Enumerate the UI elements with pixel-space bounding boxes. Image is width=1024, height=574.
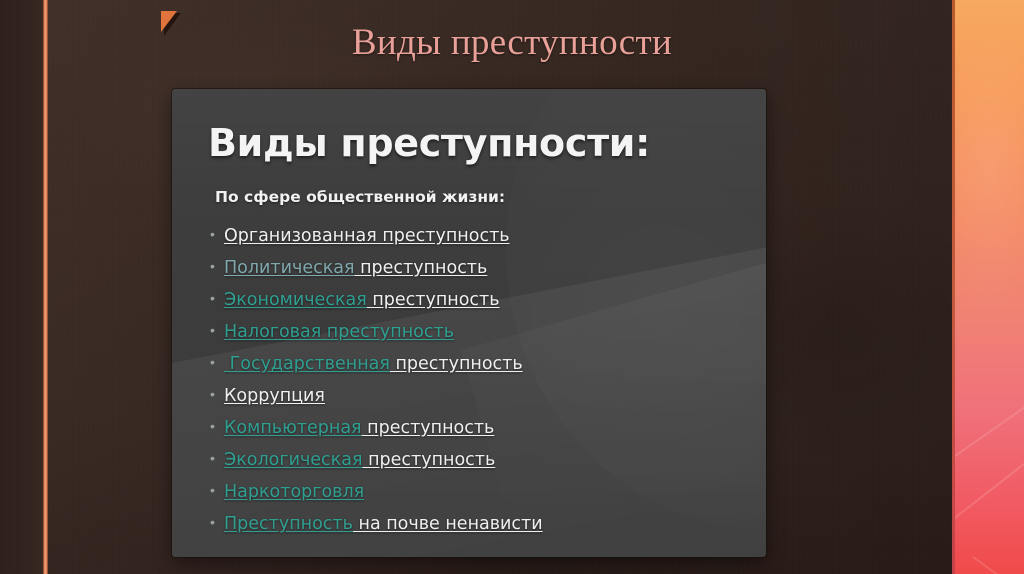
bullet-dot-icon: • [210,227,224,241]
left-orange-rule [43,0,48,574]
list-item-label: Экономическая преступность [224,288,500,312]
list-item-label: Налоговая преступность [224,320,454,344]
list-item[interactable]: •Коррупция [210,384,742,416]
list-item[interactable]: • Государственная преступность [210,352,742,384]
bullet-dot-icon: • [210,419,224,433]
bullet-dot-icon: • [210,323,224,337]
list-item-segment: Организованная преступность [224,226,510,246]
list-item[interactable]: •Налоговая преступность [210,320,742,352]
bullet-dot-icon: • [210,451,224,465]
list-item-label: Экологическая преступность [224,448,495,472]
slide-heading: Виды преступности [0,21,1024,65]
list-item-segment: преступность [367,290,500,310]
bullet-dot-icon: • [210,515,224,529]
board-subtitle: По сфере общественной жизни: [215,187,742,207]
list-item-segment: Наркоторговля [224,482,364,502]
right-panel-line-decor [955,0,1024,574]
list-item-label: Преступность на почве ненависти [224,512,543,536]
board-title: Виды преступности: [208,121,742,165]
list-item-segment: Налоговая преступность [224,322,454,342]
list-item-segment: преступность [362,418,495,438]
bullet-dot-icon: • [210,483,224,497]
list-item-segment: Преступность [224,514,353,534]
list-item-segment: Экологическая [224,450,363,470]
list-item-label: Организованная преступность [224,224,510,248]
list-item-segment: преступность [363,450,496,470]
list-item-label: Государственная преступность [224,352,523,376]
bullet-dot-icon: • [210,259,224,273]
content-board: Виды преступности: По сфере общественной… [172,89,766,557]
list-item-segment: преступность [390,354,523,374]
board-content: Виды преступности: По сфере общественной… [172,89,766,557]
left-dark-band [0,0,44,574]
list-item[interactable]: •Наркоторговля [210,480,742,512]
list-item-label: Коррупция [224,384,325,408]
right-gradient-panel [955,0,1024,574]
list-item-segment: преступность [355,258,488,278]
list-item[interactable]: •Организованная преступность [210,224,742,256]
list-item[interactable]: •Политическая преступность [210,256,742,288]
list-item-segment: Экономическая [224,290,367,310]
bullet-dot-icon: • [210,291,224,305]
list-item-label: Компьютерная преступность [224,416,494,440]
list-item[interactable]: •Экономическая преступность [210,288,742,320]
list-item[interactable]: •Компьютерная преступность [210,416,742,448]
list-item-label: Наркоторговля [224,480,364,504]
bullet-dot-icon: • [210,387,224,401]
list-item[interactable]: •Экологическая преступность [210,448,742,480]
list-item[interactable]: •Преступность на почве ненависти [210,512,742,544]
list-item-label: Политическая преступность [224,256,487,280]
list-item-segment: Коррупция [224,386,325,406]
list-item-segment: на почве ненависти [353,514,543,534]
presentation-slide: Виды преступности Виды преступности: По … [0,0,1024,574]
list-item-segment: Компьютерная [224,418,362,438]
crime-types-list: •Организованная преступность•Политическа… [210,224,742,544]
list-item-segment: Политическая [224,258,355,278]
list-item-segment: Государственная [224,354,390,374]
bullet-dot-icon: • [210,355,224,369]
